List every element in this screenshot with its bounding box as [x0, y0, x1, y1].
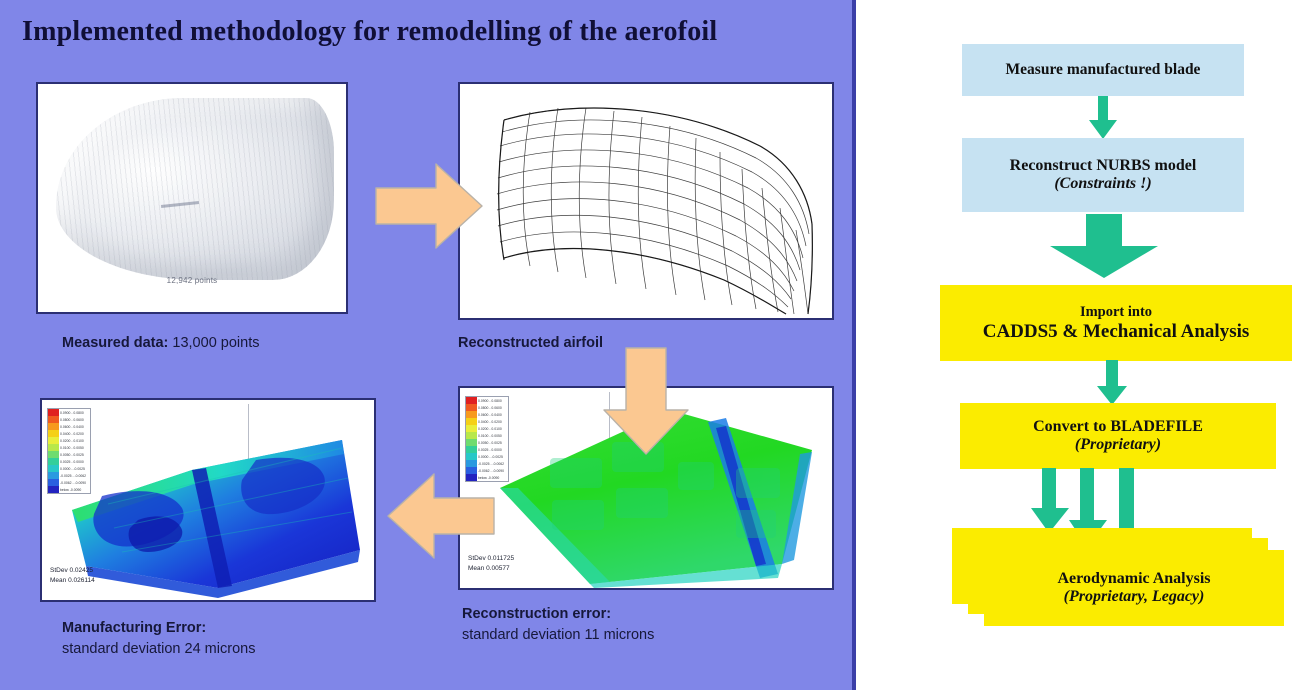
legend-swatch [466, 411, 477, 418]
flow-node-line2: (Proprietary) [1075, 436, 1161, 454]
legend-row: 0.0600 - 0.0400 [466, 411, 508, 418]
page-title: Implemented methodology for remodelling … [22, 16, 812, 48]
legend-swatch [466, 404, 477, 411]
legend-swatch [48, 451, 59, 458]
legend-swatch [48, 458, 59, 465]
arrow-nurbs-to-import [1048, 214, 1160, 280]
flow-node-line1: Convert to BLADEFILE [1033, 418, 1203, 436]
legend-row: 0.0050 - 0.0025 [466, 439, 508, 446]
caption-lead: Measured data: [62, 335, 168, 351]
caption-lead: Reconstruction error: [462, 604, 654, 625]
legend-label: 0.0000 - -0.0025 [477, 455, 508, 459]
stdev-value: StDev 0.02425 [50, 566, 95, 576]
legend-label: 0.0100 - 0.0050 [59, 446, 90, 450]
legend-row: 0.0400 - 0.0200 [48, 430, 90, 437]
legend-label: 0.0800 - 0.0600 [59, 418, 90, 422]
process-flowchart: Measure manufactured blade Reconstruct N… [856, 0, 1294, 690]
legend-swatch [48, 486, 59, 493]
legend-swatch [48, 437, 59, 444]
flow-node-measure-blade[interactable]: Measure manufactured blade [962, 44, 1244, 96]
flow-node-import-cadds5[interactable]: Import into CADDS5 & Mechanical Analysis [940, 285, 1292, 361]
caption-measured-data: Measured data: 13,000 points [62, 333, 259, 354]
measured-data-image: 12,942 points [36, 82, 348, 314]
legend-label: 0.0600 - 0.0400 [477, 413, 508, 417]
legend-label: 0.0900 - 0.0800 [477, 399, 508, 403]
legend-label: -0.0025 - -0.0062 [59, 474, 90, 478]
arrow-import-to-convert [1096, 360, 1128, 406]
legend-swatch [466, 460, 477, 467]
point-cloud-striations [56, 98, 333, 280]
legend-label: 0.0800 - 0.0600 [477, 406, 508, 410]
legend-swatch [466, 425, 477, 432]
manufacturing-error-image: 0.0900 - 0.0800 0.0800 - 0.0600 0.0600 -… [40, 398, 376, 602]
legend-label: 0.0400 - 0.0200 [477, 420, 508, 424]
legend-label: -0.0062 - -0.0090 [59, 481, 90, 485]
legend-label: 0.0900 - 0.0800 [59, 411, 90, 415]
caption-sub: 13,000 points [168, 335, 259, 351]
point-count-label: 12,942 points [167, 276, 218, 285]
legend-label: below -0.0090 [59, 488, 90, 492]
legend-row: 0.0000 - -0.0025 [48, 465, 90, 472]
arrow-convert-to-aero-left [1030, 468, 1072, 534]
reconstructed-airfoil-image [458, 82, 834, 320]
caption-reconstructed-airfoil: Reconstructed airfoil [458, 333, 603, 354]
arrow-measure-to-nurbs [1088, 96, 1118, 140]
flow-node-line1: Aerodynamic Analysis [1057, 570, 1210, 588]
legend-row: 0.0400 - 0.0200 [466, 418, 508, 425]
legend-row: 0.0100 - 0.0050 [466, 432, 508, 439]
flow-node-line2: (Proprietary, Legacy) [1064, 588, 1205, 606]
legend-swatch [48, 430, 59, 437]
legend-row: 0.0025 - 0.0000 [48, 458, 90, 465]
flow-node-line1: Import into [1080, 304, 1152, 321]
flow-node-reconstruct-nurbs[interactable]: Reconstruct NURBS model (Constraints !) [962, 138, 1244, 212]
arrow-left-error-to-manufacturing [386, 470, 496, 562]
legend-row: 0.0100 - 0.0050 [48, 444, 90, 451]
legend-row: -0.0025 - -0.0062 [48, 472, 90, 479]
legend-label: 0.0600 - 0.0400 [59, 425, 90, 429]
legend-swatch [466, 418, 477, 425]
legend-row: below -0.0090 [48, 486, 90, 493]
legend-row: 0.0900 - 0.0800 [48, 409, 90, 416]
legend-row: 0.0000 - -0.0025 [466, 453, 508, 460]
legend-label: 0.0025 - 0.0000 [477, 448, 508, 452]
arrow-right-measured-to-reconstructed [374, 158, 484, 254]
legend-label: 0.0100 - 0.0050 [477, 434, 508, 438]
nurbs-wireframe [460, 84, 832, 318]
mean-value: Mean 0.00577 [468, 564, 514, 574]
flow-node-aerodynamic-analysis-stack[interactable]: Aerodynamic Analysis (Proprietary, Legac… [952, 528, 1294, 638]
legend-row: -0.0062 - -0.0090 [48, 479, 90, 486]
legend-swatch [466, 446, 477, 453]
legend-label: 0.0050 - 0.0025 [477, 441, 508, 445]
legend-swatch [48, 423, 59, 430]
slide-canvas: Implemented methodology for remodelling … [0, 0, 1294, 690]
legend-row: -0.0025 - -0.0062 [466, 460, 508, 467]
legend-label: 0.0200 - 0.0100 [59, 439, 90, 443]
error-statistics: StDev 0.02425 Mean 0.026114 [50, 566, 95, 586]
legend-swatch [48, 444, 59, 451]
wireframe-svg [460, 84, 832, 318]
legend-row: 0.0025 - 0.0000 [466, 446, 508, 453]
legend-swatch [48, 416, 59, 423]
legend-swatch [466, 439, 477, 446]
legend-swatch [466, 432, 477, 439]
legend-swatch [48, 465, 59, 472]
flow-node-line1: Reconstruct NURBS model [1010, 157, 1197, 175]
legend-swatch [48, 479, 59, 486]
methodology-panel: Implemented methodology for remodelling … [0, 0, 856, 690]
color-legend: 0.0900 - 0.0800 0.0800 - 0.0600 0.0600 -… [47, 408, 91, 494]
flow-node-line1: Measure manufactured blade [1006, 61, 1201, 79]
legend-swatch [466, 453, 477, 460]
legend-row: 0.0050 - 0.0025 [48, 451, 90, 458]
legend-row: 0.0600 - 0.0400 [48, 423, 90, 430]
legend-label: 0.0400 - 0.0200 [59, 432, 90, 436]
flow-node-line2: (Constraints !) [1054, 175, 1151, 193]
legend-label: 0.0200 - 0.0100 [477, 427, 508, 431]
legend-row: 0.0800 - 0.0600 [48, 416, 90, 423]
caption-sub: standard deviation 24 microns [62, 639, 255, 660]
flow-node-convert-bladefile[interactable]: Convert to BLADEFILE (Proprietary) [960, 403, 1276, 469]
legend-swatch [48, 409, 59, 416]
legend-swatch [48, 472, 59, 479]
legend-label: 0.0025 - 0.0000 [59, 460, 90, 464]
caption-reconstruction-error: Reconstruction error: standard deviation… [462, 604, 654, 646]
mean-value: Mean 0.026114 [50, 576, 95, 586]
caption-lead: Manufacturing Error: [62, 618, 255, 639]
legend-label: 0.0000 - -0.0025 [59, 467, 90, 471]
caption-manufacturing-error: Manufacturing Error: standard deviation … [62, 618, 255, 660]
legend-row: 0.0900 - 0.0800 [466, 397, 508, 404]
legend-label: 0.0050 - 0.0025 [59, 453, 90, 457]
legend-label: -0.0025 - -0.0062 [477, 462, 508, 466]
legend-row: 0.0200 - 0.0100 [48, 437, 90, 444]
arrow-down-reconstructed-to-error [600, 346, 692, 456]
legend-row: 0.0800 - 0.0600 [466, 404, 508, 411]
error-map-canvas: 0.0900 - 0.0800 0.0800 - 0.0600 0.0600 -… [42, 400, 374, 600]
legend-row: 0.0200 - 0.0100 [466, 425, 508, 432]
legend-swatch [466, 397, 477, 404]
flow-node-line2: CADDS5 & Mechanical Analysis [983, 321, 1250, 343]
caption-sub: standard deviation 11 microns [462, 625, 654, 646]
caption-lead: Reconstructed airfoil [458, 335, 603, 351]
aero-card-front[interactable]: Aerodynamic Analysis (Proprietary, Legac… [984, 550, 1284, 626]
